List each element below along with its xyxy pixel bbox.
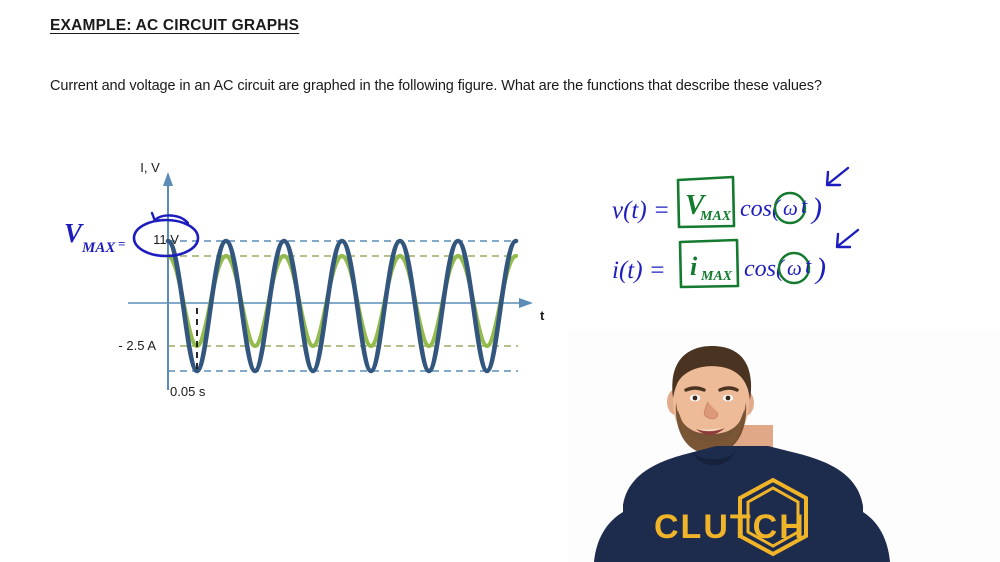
voltage-close-paren: )	[810, 192, 822, 225]
current-amplitude-label: - 2.5 A	[118, 338, 156, 353]
right-pupil	[726, 396, 731, 401]
clutch-wordmark: CLUTCH	[654, 508, 806, 546]
voltage-waveform	[168, 241, 516, 371]
y-axis-label: I, V	[140, 160, 160, 175]
voltage-omega-symbol: ω	[783, 196, 798, 220]
handwritten-equations: v(t) = V MAX cos( ω t ) i(t) = i MAX cos…	[600, 160, 900, 290]
ac-circuit-graph: I, V t - 2.5 A 0.05 s V MAX = 11 V	[40, 150, 560, 420]
vmax-handwritten-symbol: V	[64, 218, 84, 248]
voltage-boxed-subscript: MAX	[699, 209, 732, 224]
voltage-equation-pointer-arrow	[827, 168, 848, 185]
page-title: EXAMPLE: AC CIRCUIT GRAPHS	[50, 17, 299, 35]
current-equation-lhs: i(t) =	[612, 257, 666, 284]
vmax-handwritten-equals: =	[118, 236, 125, 251]
current-boxed-subscript: MAX	[700, 269, 733, 284]
current-waveform	[168, 256, 516, 346]
left-eyebrow	[686, 388, 704, 390]
current-close-paren: )	[814, 252, 826, 285]
vmax-handwritten-subscript: MAX	[81, 240, 116, 256]
question-prompt: Current and voltage in an AC circuit are…	[50, 78, 822, 94]
y-axis-arrowhead	[163, 172, 173, 186]
current-omega-symbol: ω	[787, 256, 802, 280]
x-axis-label: t	[540, 308, 545, 323]
current-time-variable: t	[805, 253, 812, 278]
voltage-amplitude-label: 11 V	[153, 232, 179, 247]
voltage-time-variable: t	[801, 193, 808, 218]
x-axis-arrowhead	[519, 298, 533, 308]
presenter-video: CLUTCH	[568, 330, 1000, 562]
voltage-equation-lhs: v(t) =	[612, 197, 670, 224]
current-equation-pointer-arrow	[837, 230, 858, 247]
current-boxed-symbol: i	[690, 252, 698, 281]
right-eyebrow	[720, 388, 737, 390]
period-label: 0.05 s	[170, 384, 206, 399]
left-pupil	[693, 396, 698, 401]
